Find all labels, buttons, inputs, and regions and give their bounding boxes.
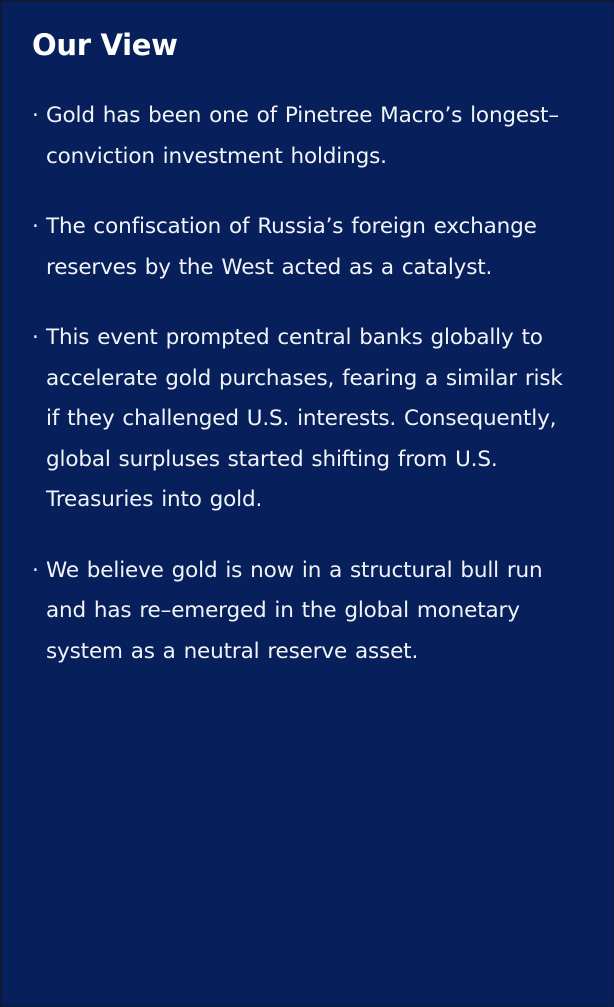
list-item: · This event prompted central banks glob… — [32, 318, 576, 521]
bullet-dot-icon: · — [32, 318, 39, 359]
list-item-text: The confiscation of Russia’s foreign exc… — [46, 214, 537, 280]
view-bullet-list: · Gold has been one of Pinetree Macro’s … — [32, 96, 583, 672]
list-item-text: We believe gold is now in a structural b… — [46, 558, 543, 664]
list-item: · We believe gold is now in a structural… — [32, 551, 576, 673]
our-view-panel: Our View · Gold has been one of Pinetree… — [0, 0, 614, 1007]
list-item-text: This event prompted central banks global… — [46, 325, 563, 512]
list-item-text: Gold has been one of Pinetree Macro’s lo… — [46, 103, 559, 169]
list-item: · Gold has been one of Pinetree Macro’s … — [32, 96, 576, 177]
page-title: Our View — [32, 28, 583, 62]
bullet-dot-icon: · — [32, 207, 39, 248]
panel-content: Our View · Gold has been one of Pinetree… — [2, 2, 613, 672]
bullet-dot-icon: · — [32, 96, 39, 137]
list-item: · The confiscation of Russia’s foreign e… — [32, 207, 576, 288]
bullet-dot-icon: · — [32, 551, 39, 592]
